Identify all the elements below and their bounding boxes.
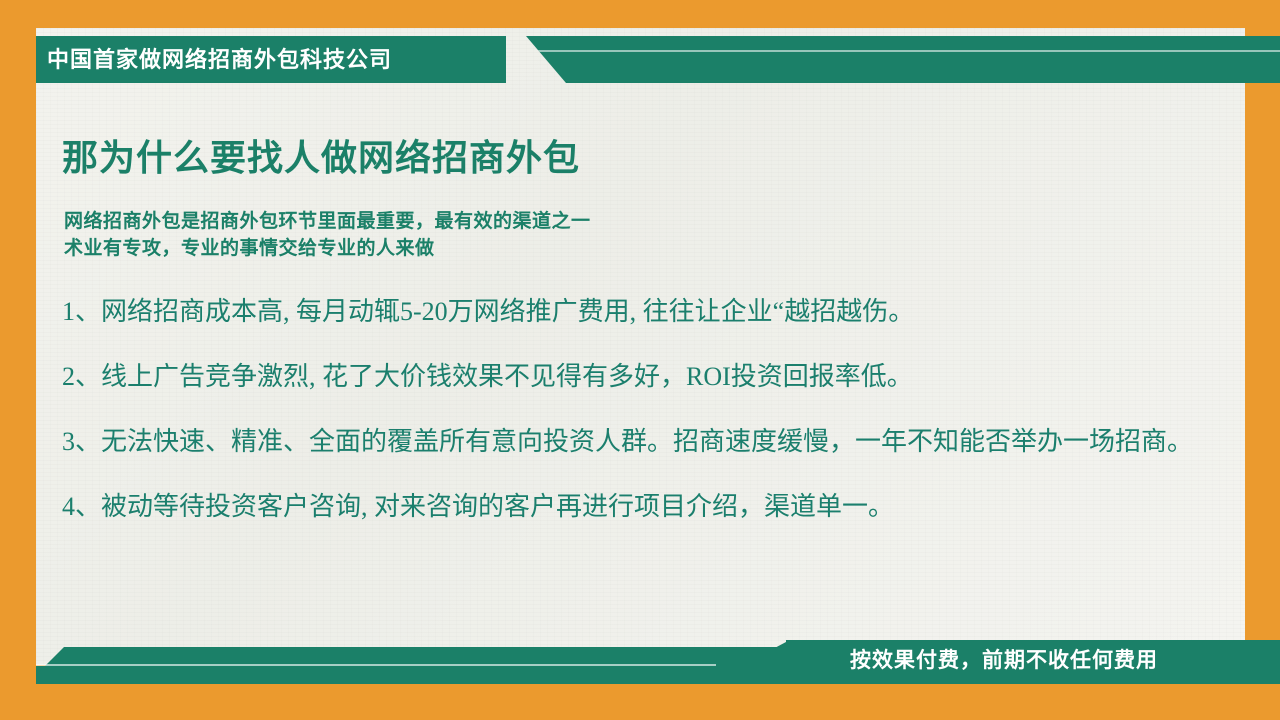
page-title: 那为什么要找人做网络招商外包 [62, 136, 580, 180]
list-item: 4、被动等待投资客户咨询, 对来咨询的客户再进行项目介绍，渠道单一。 [62, 487, 1212, 526]
header-title: 中国首家做网络招商外包科技公司 [47, 44, 527, 76]
subtitle-line-2: 术业有专攻，专业的事情交给专业的人来做 [64, 235, 591, 262]
footer-text: 按效果付费，前期不收任何费用 [850, 645, 1270, 677]
list-item: 3、无法快速、精准、全面的覆盖所有意向投资人群。招商速度缓慢，一年不知能否举办一… [62, 422, 1212, 461]
list-item: 1、网络招商成本高, 每月动辄5-20万网络推广费用, 往往让企业“越招越伤。 [62, 292, 1212, 331]
subtitle-line-1: 网络招商外包是招商外包环节里面最重要，最有效的渠道之一 [64, 208, 591, 235]
slide-root: 中国首家做网络招商外包科技公司 那为什么要找人做网络招商外包 网络招商外包是招商… [0, 0, 1280, 720]
subtitle-block: 网络招商外包是招商外包环节里面最重要，最有效的渠道之一 术业有专攻，专业的事情交… [64, 208, 591, 262]
header-ribbon-accent-line [426, 50, 1280, 52]
list-item: 2、线上广告竞争激烈, 花了大价钱效果不见得有多好，ROI投资回报率低。 [62, 357, 1212, 396]
footer-ribbon-accent-line [36, 664, 716, 666]
reason-list: 1、网络招商成本高, 每月动辄5-20万网络推广费用, 往往让企业“越招越伤。 … [62, 292, 1212, 526]
